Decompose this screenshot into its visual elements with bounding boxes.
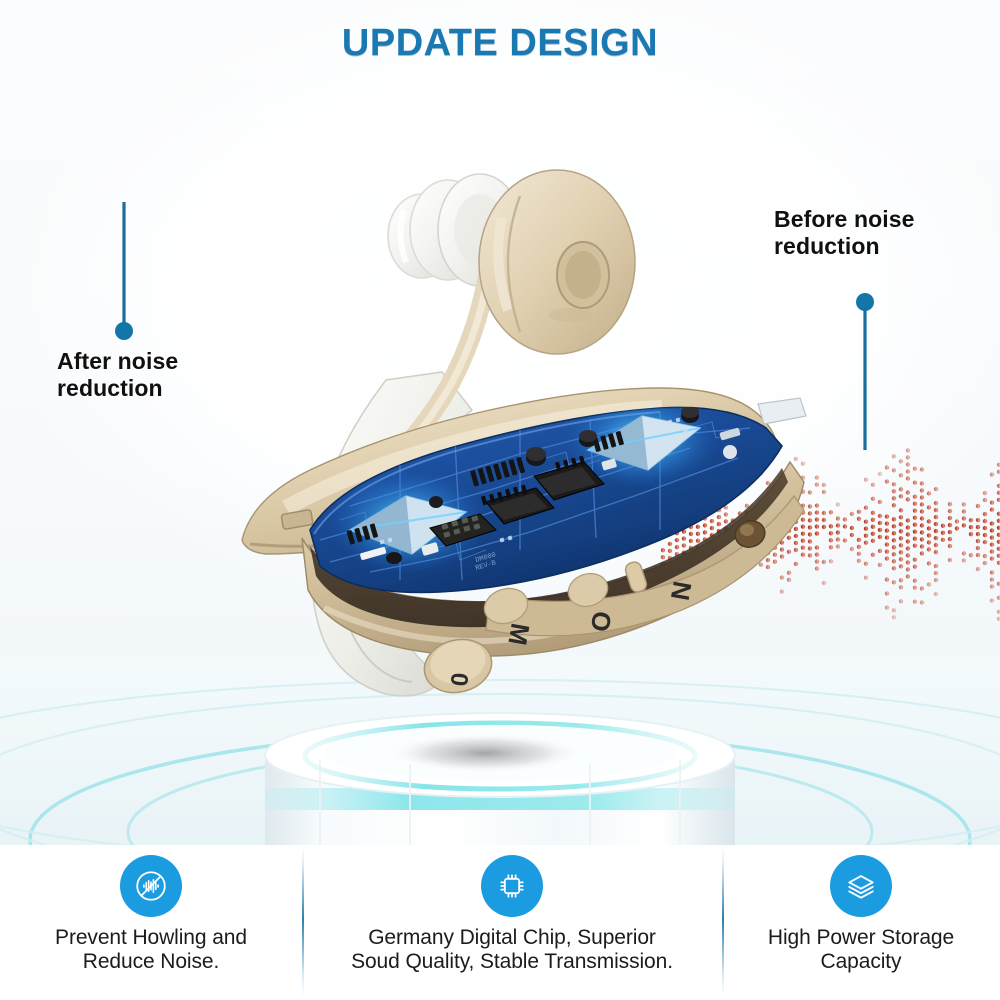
volume-dial-label: 0 <box>445 671 473 687</box>
feature-2-line1: Germany Digital Chip, Superior <box>351 926 673 950</box>
features-bar: Prevent Howling and Reduce Noise. <box>0 845 1000 1000</box>
feature-digital-chip: Germany Digital Chip, Superior Soud Qual… <box>302 845 722 975</box>
feature-prevent-howling: Prevent Howling and Reduce Noise. <box>0 845 302 975</box>
annotation-before-line1: Before noise <box>774 206 915 233</box>
feature-3-text: High Power Storage Capacity <box>762 926 960 975</box>
feature-3-line1: High Power Storage <box>768 926 954 950</box>
annotation-after-line1: After noise <box>57 348 178 375</box>
annotation-after-noise-reduction: After noise reduction <box>57 348 178 402</box>
product-infographic: UPDATE DESIGN <box>0 0 1000 1000</box>
annotation-before-line2: reduction <box>774 233 915 260</box>
layers-icon <box>830 855 892 917</box>
battery-door-disk <box>479 170 635 354</box>
hearing-aid-product-image: DM800 REV-B M O N 0 <box>190 110 830 730</box>
after-leader-line <box>108 198 148 343</box>
annotation-after-line2: reduction <box>57 375 178 402</box>
feature-divider-2 <box>722 847 724 997</box>
feature-storage-capacity: High Power Storage Capacity <box>722 845 1000 975</box>
feature-1-line1: Prevent Howling and <box>55 926 247 950</box>
annotation-before-noise-reduction: Before noise reduction <box>774 206 915 260</box>
before-leader-line <box>849 292 889 452</box>
board-connector-tab <box>758 398 806 424</box>
feature-1-line2: Reduce Noise. <box>55 950 247 974</box>
feature-divider-1 <box>302 847 304 997</box>
feature-2-line2: Soud Quality, Stable Transmission. <box>351 950 673 974</box>
chip-icon <box>481 855 543 917</box>
feature-1-text: Prevent Howling and Reduce Noise. <box>49 926 253 975</box>
feature-2-text: Germany Digital Chip, Superior Soud Qual… <box>345 926 679 975</box>
feature-3-line2: Capacity <box>768 950 954 974</box>
no-noise-icon <box>120 855 182 917</box>
page-title: UPDATE DESIGN <box>0 22 1000 65</box>
